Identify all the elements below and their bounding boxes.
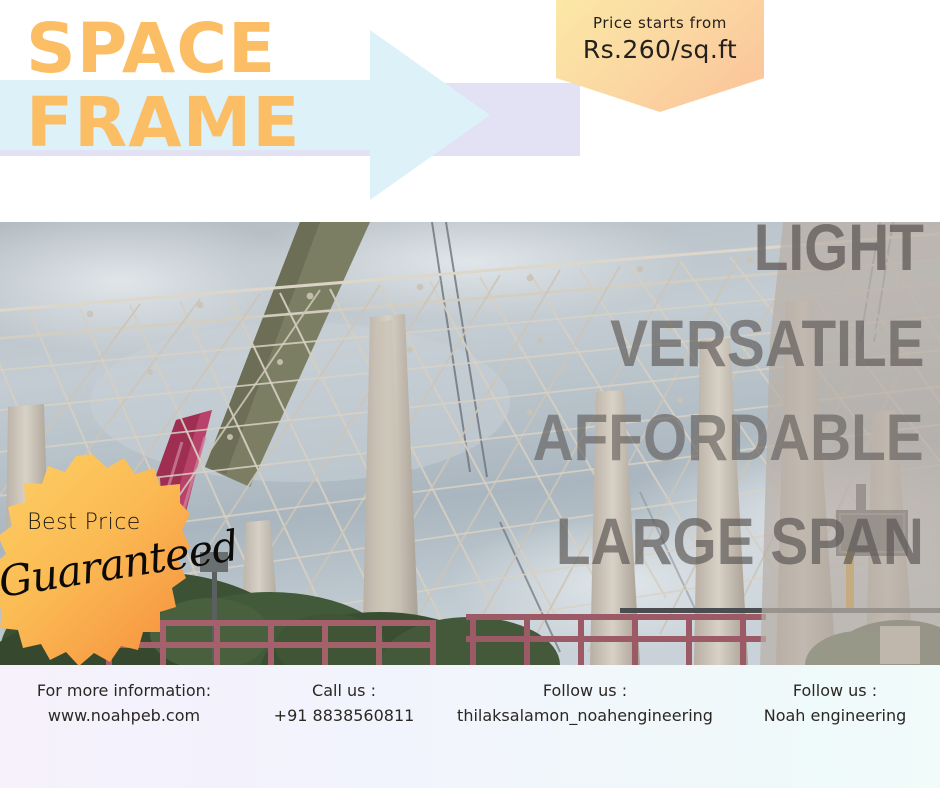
- footer-facebook-title: Follow us :: [730, 679, 940, 704]
- footer-column-phone: Call us : +91 8838560811: [248, 679, 440, 729]
- footer-column-website: For more information: www.noahpeb.com: [0, 679, 248, 729]
- poster-canvas: SLEEK AESTHETIC LIGHT VERSATILE AFFORDAB…: [0, 0, 940, 788]
- page-title: SPACE FRAME: [26, 17, 446, 156]
- footer-facebook-value[interactable]: Noah engineering: [730, 704, 940, 729]
- footer-column-facebook: Follow us : Noah engineering: [730, 679, 940, 729]
- footer-phone-title: Call us :: [248, 679, 440, 704]
- headline-line-2: FRAME: [26, 91, 446, 157]
- footer-instagram-value[interactable]: thilaksalamon_noahengineering: [440, 704, 730, 729]
- best-price-badge: Best Price Guaranteed: [0, 452, 190, 670]
- footer-phone-value[interactable]: +91 8838560811: [248, 704, 440, 729]
- feature-word-versatile: VERSATILE: [610, 310, 924, 376]
- header-banner: SPACE FRAME: [0, 0, 940, 222]
- price-value: Rs.260/sq.ft: [556, 35, 764, 64]
- feature-word-light: LIGHT: [754, 214, 924, 280]
- price-ribbon-badge: Price starts from Rs.260/sq.ft: [556, 0, 764, 112]
- footer-website-value[interactable]: www.noahpeb.com: [0, 704, 248, 729]
- feature-word-large-span: LARGE SPAN: [556, 508, 924, 574]
- contact-footer: For more information: www.noahpeb.com Ca…: [0, 665, 940, 788]
- footer-column-instagram: Follow us : thilaksalamon_noahengineerin…: [440, 679, 730, 729]
- footer-website-title: For more information:: [0, 679, 248, 704]
- headline-line-1: SPACE: [26, 9, 276, 89]
- badge-line-1: Best Price: [0, 510, 174, 535]
- footer-instagram-title: Follow us :: [440, 679, 730, 704]
- feature-word-affordable: AFFORDABLE: [533, 404, 924, 470]
- price-label: Price starts from: [556, 14, 764, 32]
